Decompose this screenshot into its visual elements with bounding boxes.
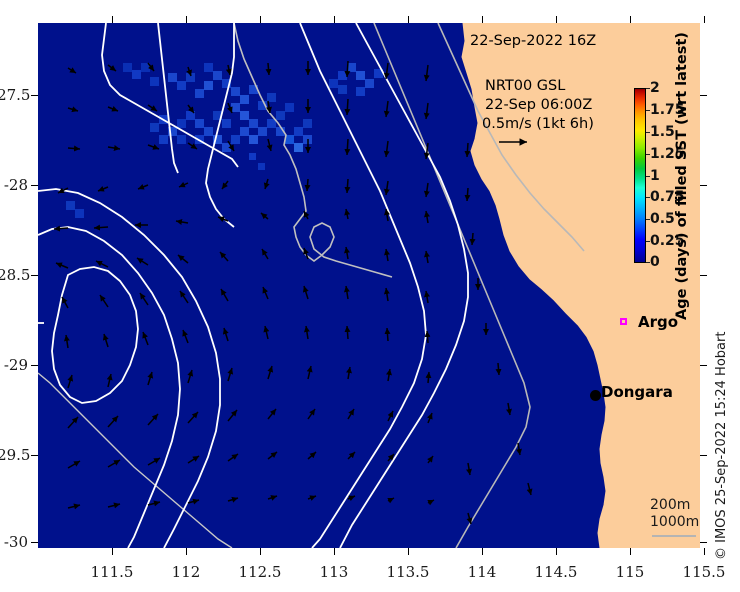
timestamp-label: 22-Sep-2022 16Z	[470, 33, 596, 49]
x-axis-tick-label: 112.5	[239, 563, 282, 581]
credit-label: © IMOS 25-Sep-2022 15:24 Hobart	[714, 290, 729, 560]
depth-contour-legend: 200m 1000m	[650, 497, 699, 531]
x-tick-mark	[630, 548, 631, 555]
x-axis-tick-label: 114	[468, 563, 497, 581]
y-axis-tick-label: -28	[0, 176, 28, 194]
x-axis-tick-label: 113	[320, 563, 349, 581]
y-tick-mark	[31, 185, 38, 186]
x-tick-mark-top	[630, 16, 631, 23]
x-tick-mark-top	[260, 16, 261, 23]
y-tick-mark-right	[700, 542, 707, 543]
depth-legend-rule	[652, 535, 696, 537]
y-tick-mark	[31, 365, 38, 366]
colorbar-tick-label: 0.5	[650, 211, 675, 227]
y-tick-mark	[31, 542, 38, 543]
y-tick-mark	[31, 455, 38, 456]
map-canvas	[38, 23, 700, 548]
dongara-marker-icon[interactable]	[590, 390, 601, 401]
y-tick-mark-right	[700, 455, 707, 456]
y-tick-mark	[31, 275, 38, 276]
dongara-label: Dongara	[601, 383, 673, 401]
x-tick-mark	[260, 548, 261, 555]
depth-legend-200m: 200m	[650, 497, 699, 514]
map-plot-area[interactable]: 22-Sep-2022 16Z NRT00 GSL 22-Sep 06:00Z …	[38, 23, 700, 548]
x-axis-tick-label: 115.5	[683, 563, 726, 581]
x-tick-mark-top	[704, 16, 705, 23]
y-axis-tick-label: -30	[0, 533, 28, 551]
vector-scale-arrow-icon	[497, 135, 537, 149]
y-tick-mark-right	[700, 185, 707, 186]
x-axis-tick-label: 111.5	[91, 563, 134, 581]
x-axis-tick-label: 112	[172, 563, 201, 581]
y-tick-mark-right	[700, 275, 707, 276]
y-axis-tick-label: -28.5	[0, 266, 28, 284]
x-tick-mark-top	[112, 16, 113, 23]
colorbar[interactable]	[634, 88, 646, 263]
colorbar-tick-label: 1	[650, 168, 660, 184]
y-axis-tick-label: -29.5	[0, 446, 28, 464]
vector-scale-label: 0.5m/s (1kt 6h)	[482, 116, 594, 132]
colorbar-tick-label: 2	[650, 80, 660, 96]
x-tick-mark	[482, 548, 483, 555]
colorbar-gradient	[634, 88, 646, 263]
x-tick-mark-top	[408, 16, 409, 23]
x-tick-mark	[408, 548, 409, 555]
x-tick-mark	[556, 548, 557, 555]
colorbar-tick-label: 0	[650, 254, 660, 270]
x-tick-mark	[186, 548, 187, 555]
x-tick-mark	[334, 548, 335, 555]
x-tick-mark-top	[186, 16, 187, 23]
x-tick-mark	[112, 548, 113, 555]
x-axis-tick-label: 115	[616, 563, 645, 581]
argo-label: Argo	[638, 313, 678, 331]
x-tick-mark-top	[482, 16, 483, 23]
x-tick-mark	[704, 548, 705, 555]
x-axis-tick-label: 114.5	[535, 563, 578, 581]
x-tick-mark-top	[334, 16, 335, 23]
x-axis-tick-label: 113.5	[387, 563, 430, 581]
y-axis-tick-label: -29	[0, 356, 28, 374]
y-tick-mark-right	[700, 365, 707, 366]
model-run-time-label: 22-Sep 06:00Z	[485, 97, 592, 113]
model-name-label: NRT00 GSL	[485, 78, 565, 94]
colorbar-title: Age (days) of filled SST (wrt latest)	[674, 30, 690, 320]
y-tick-mark	[31, 95, 38, 96]
argo-marker-icon[interactable]	[620, 318, 627, 325]
y-tick-mark-right	[700, 95, 707, 96]
colorbar-tick-label: 1.5	[650, 124, 675, 140]
x-tick-mark-top	[556, 16, 557, 23]
y-axis-tick-label: -27.5	[0, 86, 28, 104]
depth-legend-1000m: 1000m	[650, 514, 699, 531]
